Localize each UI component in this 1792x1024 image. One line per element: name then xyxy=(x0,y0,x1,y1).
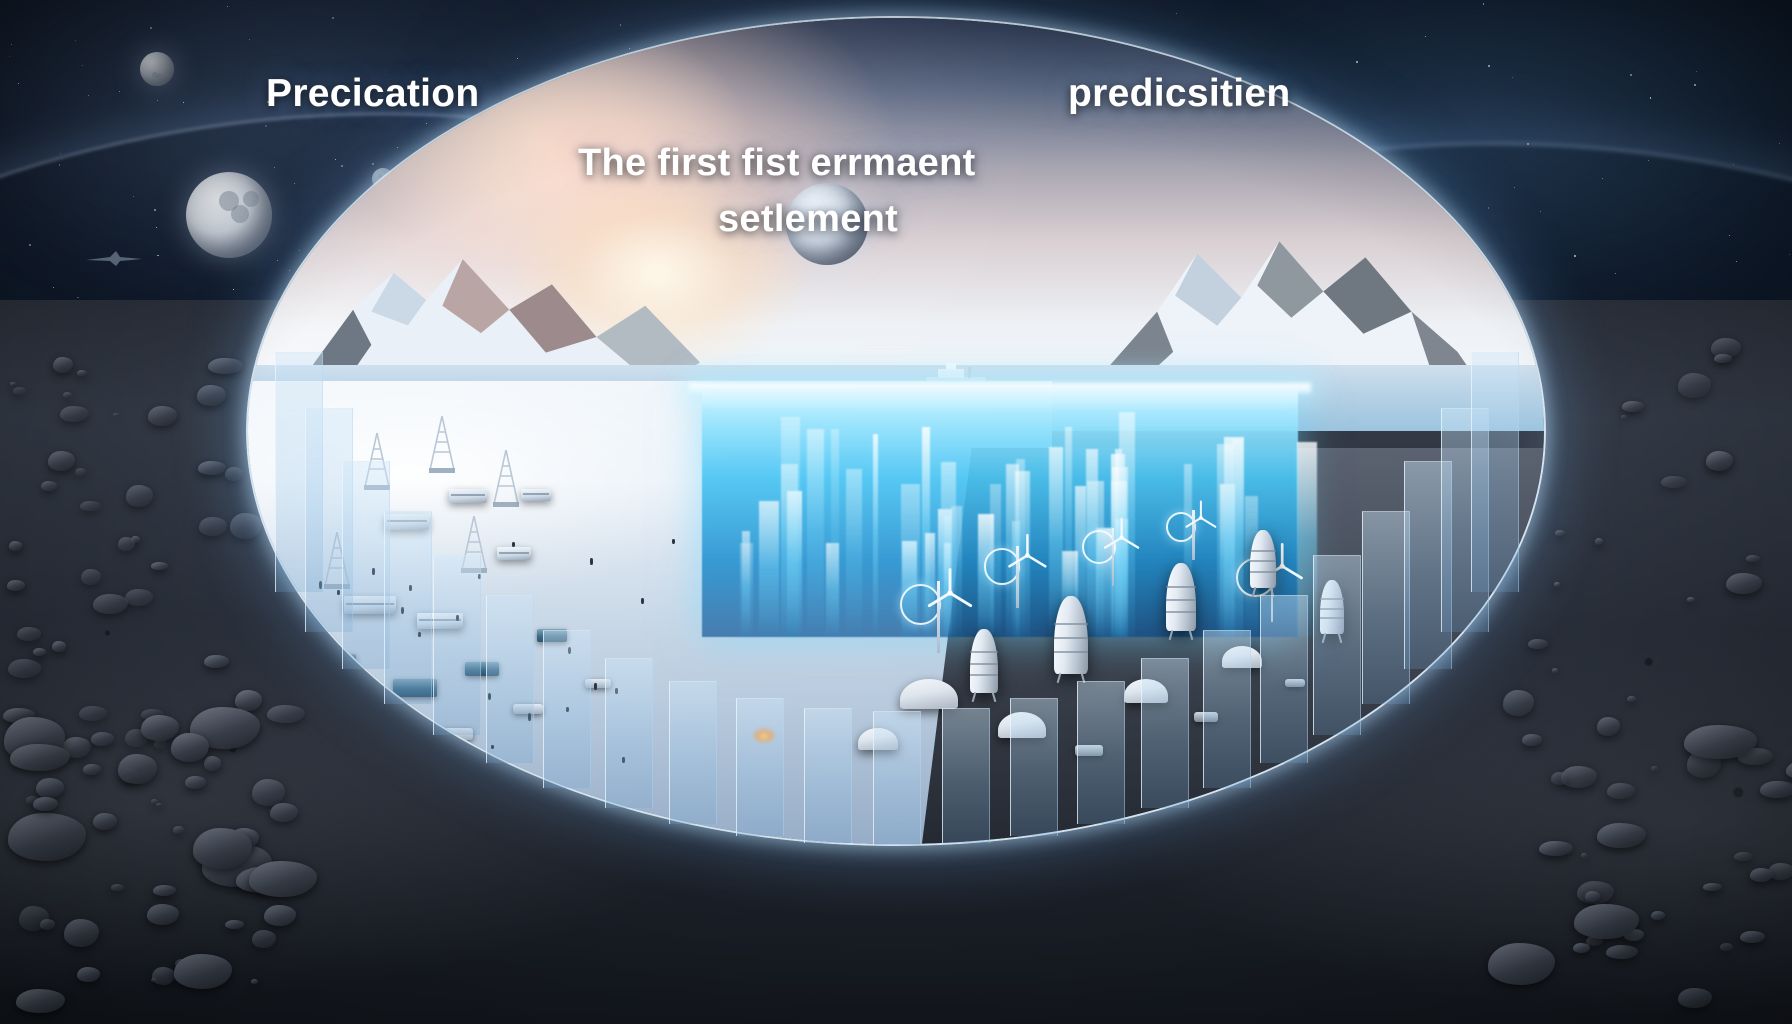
dome-glass-panel xyxy=(342,461,390,669)
dome-glass-panel xyxy=(736,698,784,836)
dome-rim-panel-wall xyxy=(300,600,1490,846)
research-module xyxy=(521,489,551,501)
figure xyxy=(672,539,675,544)
dome-glass-panel xyxy=(1260,595,1308,763)
research-module xyxy=(497,547,531,560)
dome-glass-panel xyxy=(1141,658,1189,808)
wind-turbine xyxy=(1166,497,1208,564)
overlay-title-line-2: setlement xyxy=(718,198,898,241)
figure xyxy=(590,558,593,565)
aircraft-silhouette-left xyxy=(84,248,144,268)
turbine-blades xyxy=(1100,516,1143,559)
overlay-title-line-1: The first fist errmaent xyxy=(578,142,976,185)
overlay-label-right: predicsitien xyxy=(1068,72,1291,116)
wind-turbine xyxy=(1082,514,1130,591)
turbine-blades xyxy=(1004,532,1051,579)
dome-glass-panel xyxy=(804,708,852,843)
turbine-blades xyxy=(1182,499,1220,537)
dome-glass-panel xyxy=(433,555,481,735)
drill-rig xyxy=(425,414,459,474)
dome-glass-panel xyxy=(1077,681,1125,824)
dome-glass-panel xyxy=(1313,555,1361,735)
research-module xyxy=(449,489,487,503)
dome-glass-panel xyxy=(1010,698,1058,836)
dome-glass-panel xyxy=(1362,511,1410,704)
concept-illustration: Precication predicsitien The first fist … xyxy=(0,0,1792,1024)
dome-glass-panel xyxy=(486,595,534,763)
drill-rig xyxy=(489,448,523,508)
dome-glass-panel xyxy=(1203,630,1251,788)
dome-glass-panel xyxy=(942,708,990,843)
dome-glass-panel xyxy=(669,681,717,824)
figure xyxy=(512,542,515,547)
dome-glass-panel xyxy=(873,711,921,845)
overlay-label-left: Precication xyxy=(266,72,480,116)
dome-glass-panel xyxy=(1471,352,1519,592)
dome-glass-panel xyxy=(384,511,432,704)
dome-glass-panel xyxy=(605,658,653,808)
dome-glass-panel xyxy=(543,630,591,788)
